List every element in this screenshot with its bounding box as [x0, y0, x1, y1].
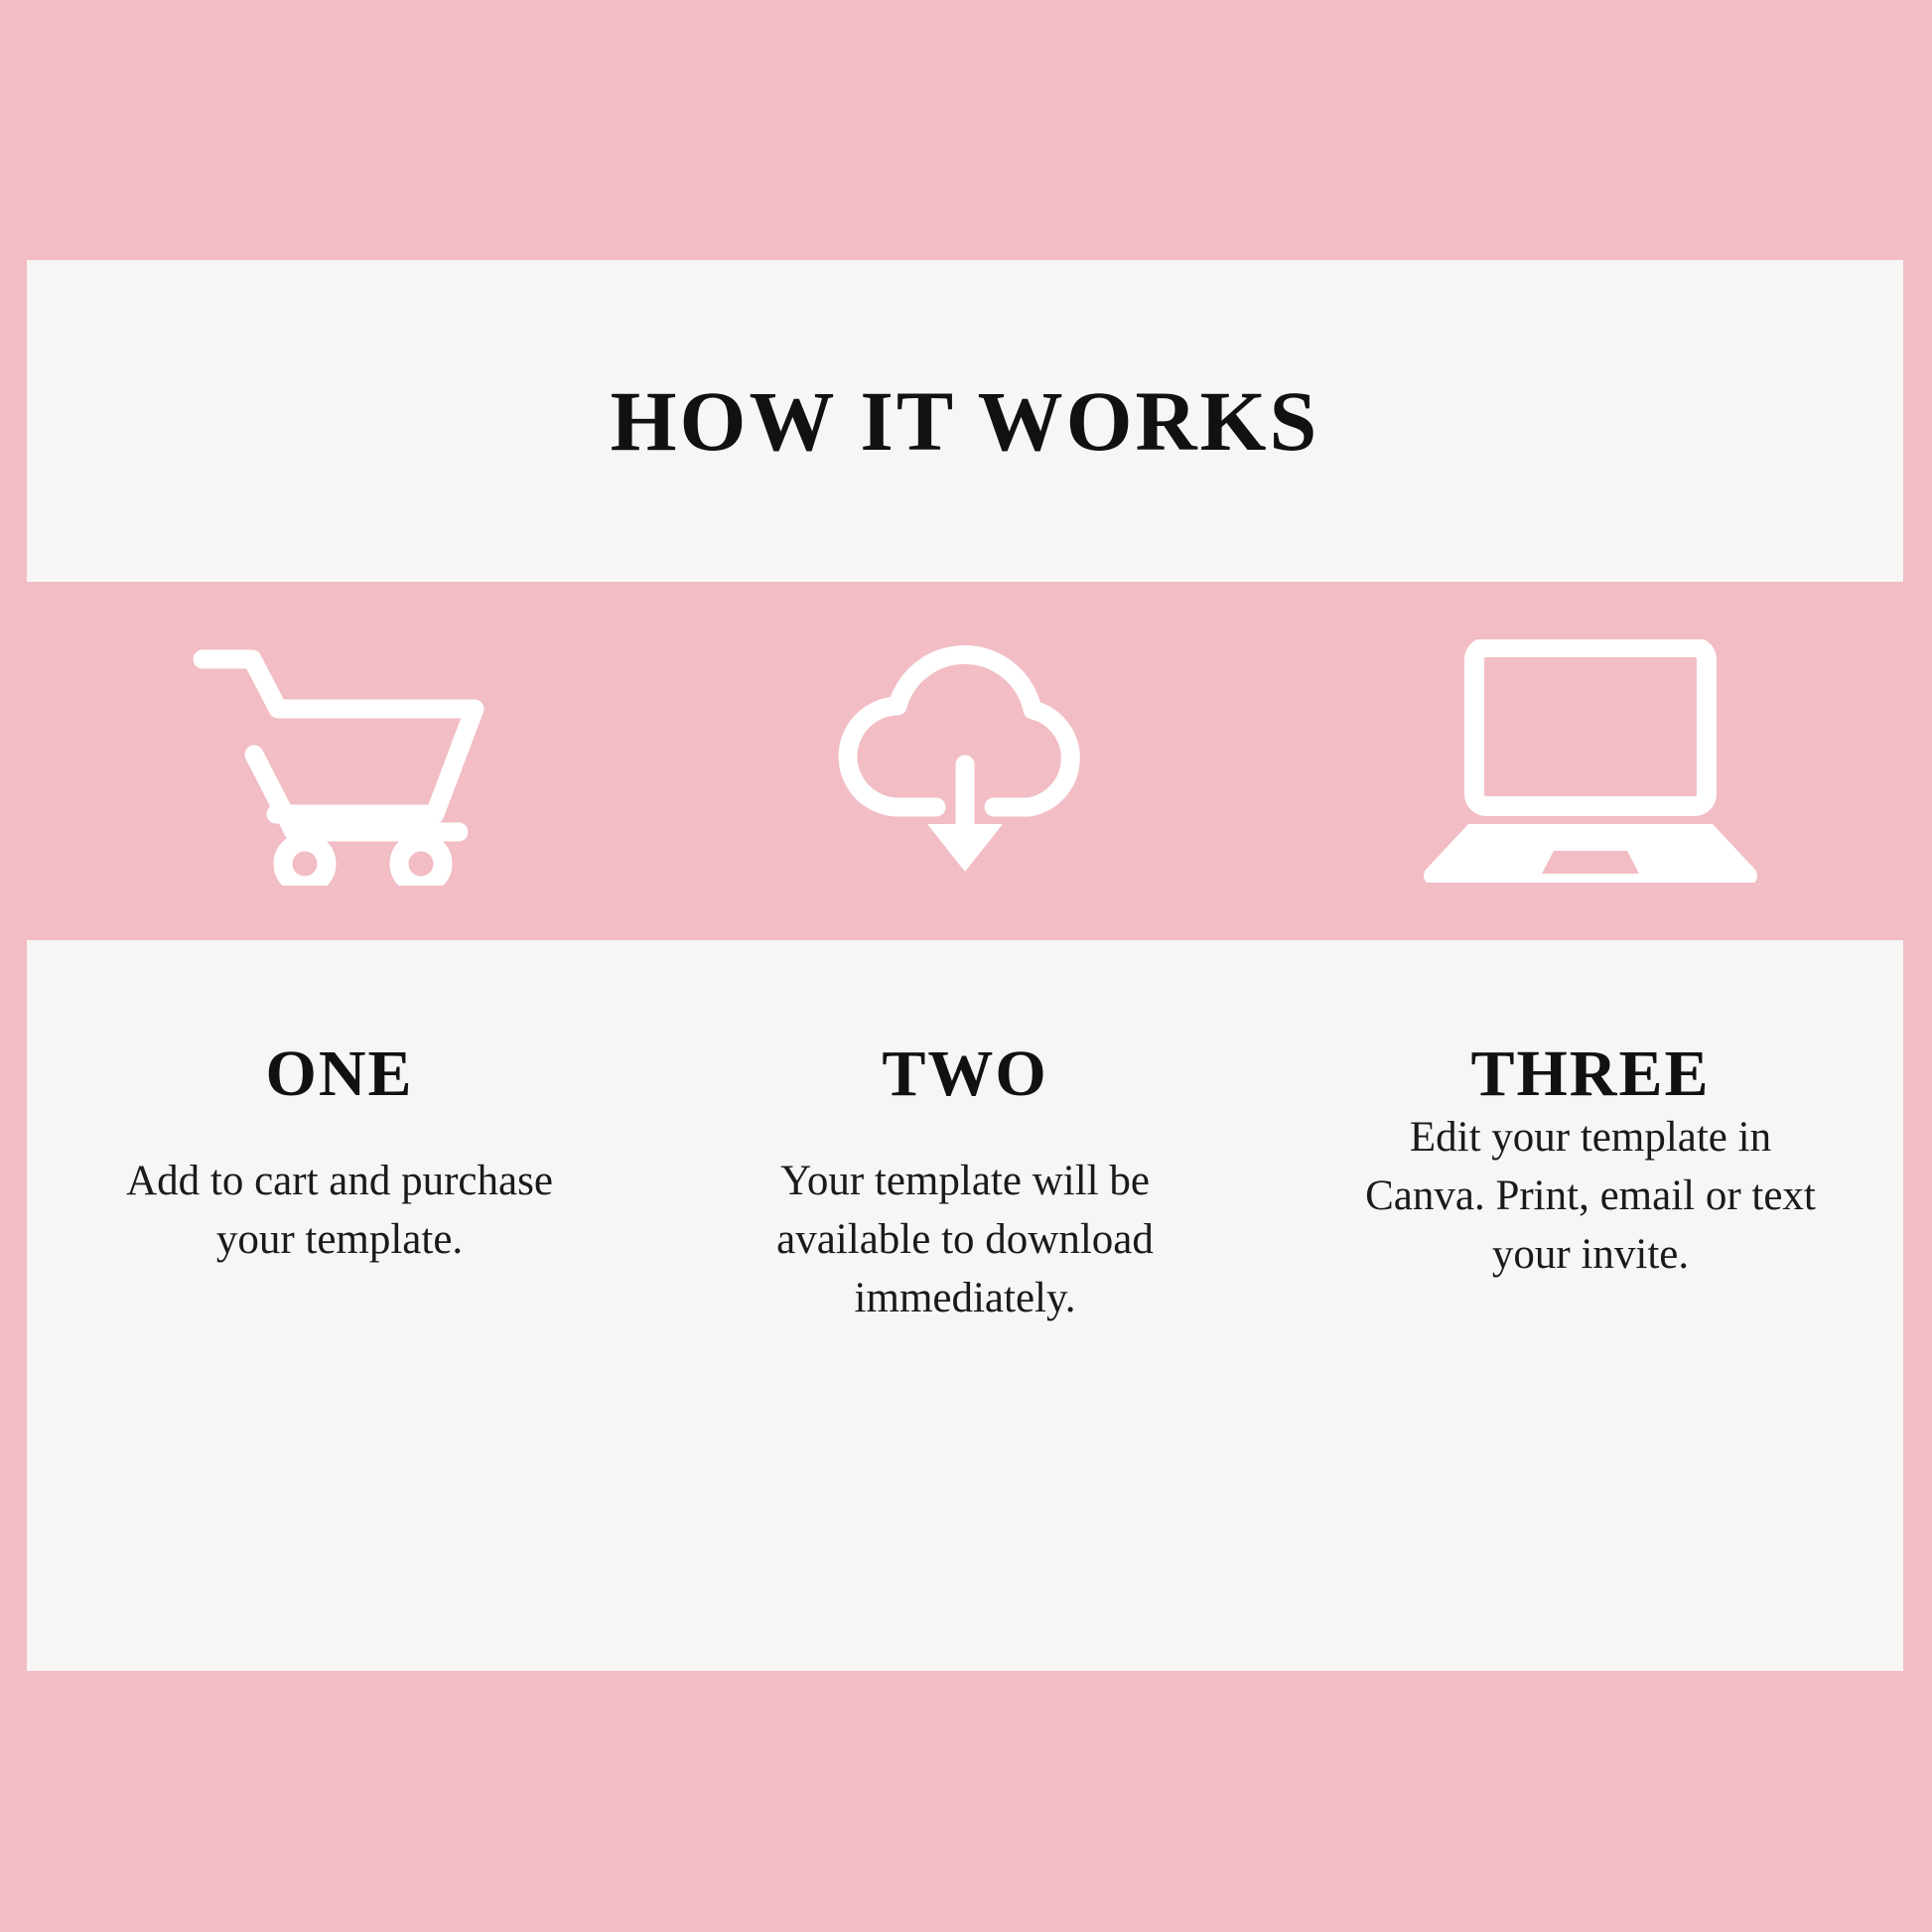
- step-body-one: Add to cart and purchase your template.: [27, 1153, 652, 1270]
- shopping-cart-icon: [191, 637, 488, 886]
- step-column-two: TWO Your template will be available to d…: [652, 940, 1278, 1671]
- cloud-download-icon: [836, 637, 1094, 886]
- icon-strip: [27, 582, 1903, 940]
- laptop-icon: [1422, 639, 1759, 883]
- page-title: HOW IT WORKS: [611, 378, 1320, 464]
- steps-panel: ONE Add to cart and purchase your templa…: [27, 940, 1903, 1671]
- step-column-three: THREE Edit your template in Canva. Print…: [1278, 940, 1903, 1671]
- step-column-one: ONE Add to cart and purchase your templa…: [27, 940, 652, 1671]
- step-heading-one: ONE: [27, 1041, 652, 1107]
- infographic-canvas: HOW IT WORKS: [0, 0, 1932, 1932]
- step-body-three: Edit your template in Canva. Print, emai…: [1278, 1109, 1903, 1285]
- icon-cell-two: [652, 582, 1278, 940]
- steps-row: ONE Add to cart and purchase your templa…: [27, 940, 1903, 1671]
- step-heading-two: TWO: [652, 1041, 1278, 1107]
- title-panel: HOW IT WORKS: [27, 260, 1903, 582]
- step-body-two: Your template will be available to downl…: [652, 1153, 1278, 1328]
- icon-cell-one: [27, 582, 652, 940]
- step-heading-three: THREE: [1278, 1041, 1903, 1107]
- icon-cell-three: [1278, 582, 1903, 940]
